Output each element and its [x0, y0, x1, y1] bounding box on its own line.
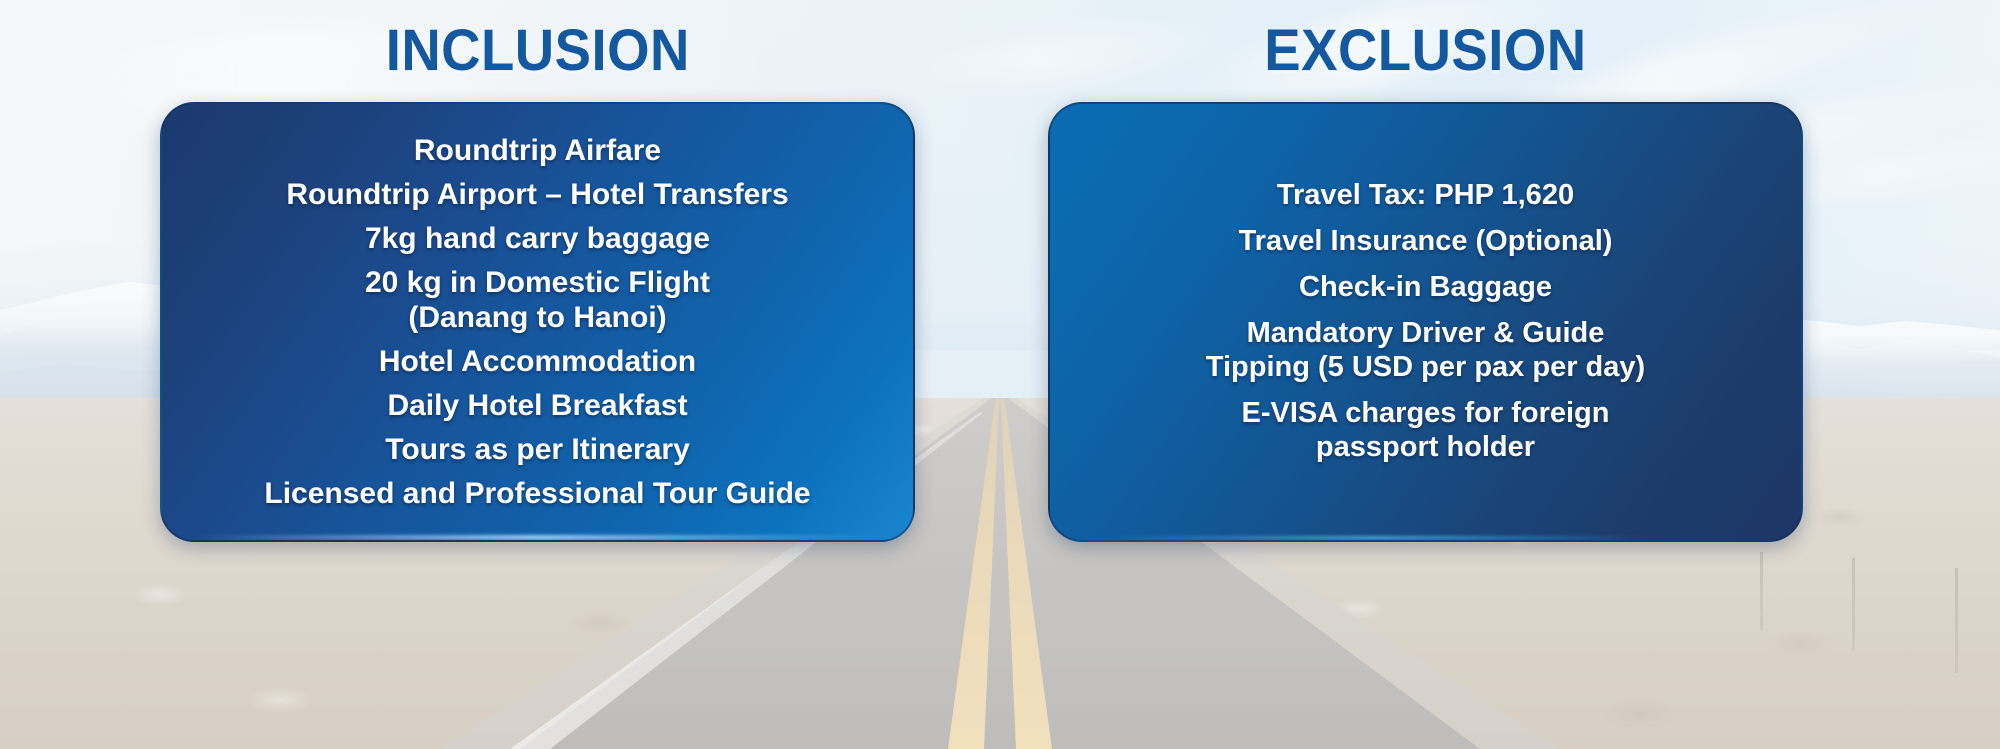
inclusion-card: Roundtrip Airfare Roundtrip Airport – Ho…: [160, 102, 915, 542]
list-item: Roundtrip Airfare: [180, 133, 895, 168]
list-item: Tours as per Itinerary: [180, 432, 895, 467]
list-item: Licensed and Professional Tour Guide: [180, 476, 895, 511]
list-item: Hotel Accommodation: [180, 344, 895, 379]
exclusion-heading: EXCLUSION: [1264, 22, 1586, 80]
list-item: Roundtrip Airport – Hotel Transfers: [180, 177, 895, 212]
content-layer: INCLUSION Roundtrip Airfare Roundtrip Ai…: [0, 0, 2000, 749]
list-item: Travel Tax: PHP 1,620: [1068, 179, 1783, 213]
inclusion-list: Roundtrip Airfare Roundtrip Airport – Ho…: [180, 124, 895, 521]
exclusion-card: Travel Tax: PHP 1,620 Travel Insurance (…: [1048, 102, 1803, 542]
list-item: Check-in Baggage: [1068, 271, 1783, 305]
list-item: Daily Hotel Breakfast: [180, 388, 895, 423]
inclusion-heading: INCLUSION: [385, 22, 689, 80]
list-item: Mandatory Driver & Guide Tipping (5 USD …: [1068, 317, 1783, 385]
list-item: E-VISA charges for foreign passport hold…: [1068, 397, 1783, 465]
exclusion-list: Travel Tax: PHP 1,620 Travel Insurance (…: [1068, 167, 1783, 476]
list-item: Travel Insurance (Optional): [1068, 225, 1783, 259]
exclusion-column: EXCLUSION Travel Tax: PHP 1,620 Travel I…: [1048, 22, 1803, 542]
list-item: 20 kg in Domestic Flight (Danang to Hano…: [180, 265, 895, 335]
inclusion-column: INCLUSION Roundtrip Airfare Roundtrip Ai…: [160, 22, 915, 542]
list-item: 7kg hand carry baggage: [180, 221, 895, 256]
